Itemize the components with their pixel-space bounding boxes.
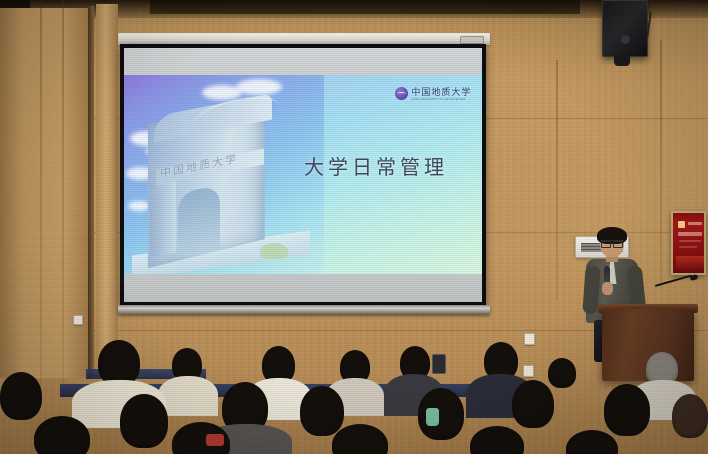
audience-head [0, 372, 42, 420]
gate-pillar [150, 178, 176, 257]
audience-head [548, 358, 576, 388]
campus-gate-photo: 中国地质大学 [132, 93, 297, 253]
slide-letterbox-bottom [124, 274, 482, 302]
audience-head [418, 388, 464, 440]
red-poster [671, 211, 706, 275]
slide-letterbox-top [124, 48, 482, 75]
screen-bottom-bar[interactable] [118, 305, 490, 314]
audience-shoulders [158, 376, 218, 416]
left-wall-edge [88, 6, 94, 378]
glasses-icon [600, 240, 624, 246]
phone-icon [432, 354, 446, 374]
audience-accessory [206, 434, 224, 446]
screen-roller-knob[interactable] [460, 36, 484, 44]
university-emblem-icon [395, 87, 408, 100]
loudspeaker-icon [602, 0, 648, 57]
audience-head [120, 394, 168, 448]
screen-frame: 中国地质大学 中国地质大学 CHINA UNIVERSITY OF GEOSCI… [120, 44, 486, 306]
screen-surface: 中国地质大学 中国地质大学 CHINA UNIVERSITY OF GEOSCI… [124, 48, 482, 302]
poster-emblem [678, 221, 685, 228]
poster-line [679, 240, 701, 242]
wall-pillar [96, 4, 118, 380]
ceiling-dark-recess [150, 0, 580, 14]
audience-head [672, 394, 708, 438]
poster-image [676, 256, 704, 270]
audience-head [470, 426, 524, 454]
poster-line [688, 222, 702, 225]
projection-screen: 中国地质大学 中国地质大学 CHINA UNIVERSITY OF GEOSCI… [118, 33, 490, 316]
audience-head [604, 384, 650, 436]
poster-line [678, 232, 702, 236]
speaker-driver [621, 35, 630, 44]
power-outlet-icon [73, 315, 83, 325]
audience-head [34, 416, 90, 454]
speaker-mount [614, 55, 630, 66]
audience-head [566, 430, 618, 454]
lecture-hall-photo: 中国地质大学 中国地质大学 CHINA UNIVERSITY OF GEOSCI… [0, 0, 708, 454]
gate-archway-opening [178, 185, 220, 257]
university-logo: 中国地质大学 CHINA UNIVERSITY OF GEOSCIENCES [395, 85, 472, 101]
presentation-slide: 中国地质大学 中国地质大学 CHINA UNIVERSITY OF GEOSCI… [124, 75, 482, 274]
cup-icon [426, 408, 439, 426]
audience-head [332, 424, 388, 454]
audience-head [300, 386, 344, 436]
audience [0, 336, 708, 454]
poster-line [679, 246, 697, 248]
wall-seam [556, 60, 558, 300]
slide-title: 大学日常管理 [286, 151, 466, 180]
presenter-hand [602, 282, 613, 295]
university-name-en: CHINA UNIVERSITY OF GEOSCIENCES [411, 98, 466, 101]
audience-head [512, 380, 554, 428]
greenery-shape [260, 243, 288, 259]
wall-seam [660, 40, 662, 290]
university-name-cn: 中国地质大学 [411, 85, 472, 98]
